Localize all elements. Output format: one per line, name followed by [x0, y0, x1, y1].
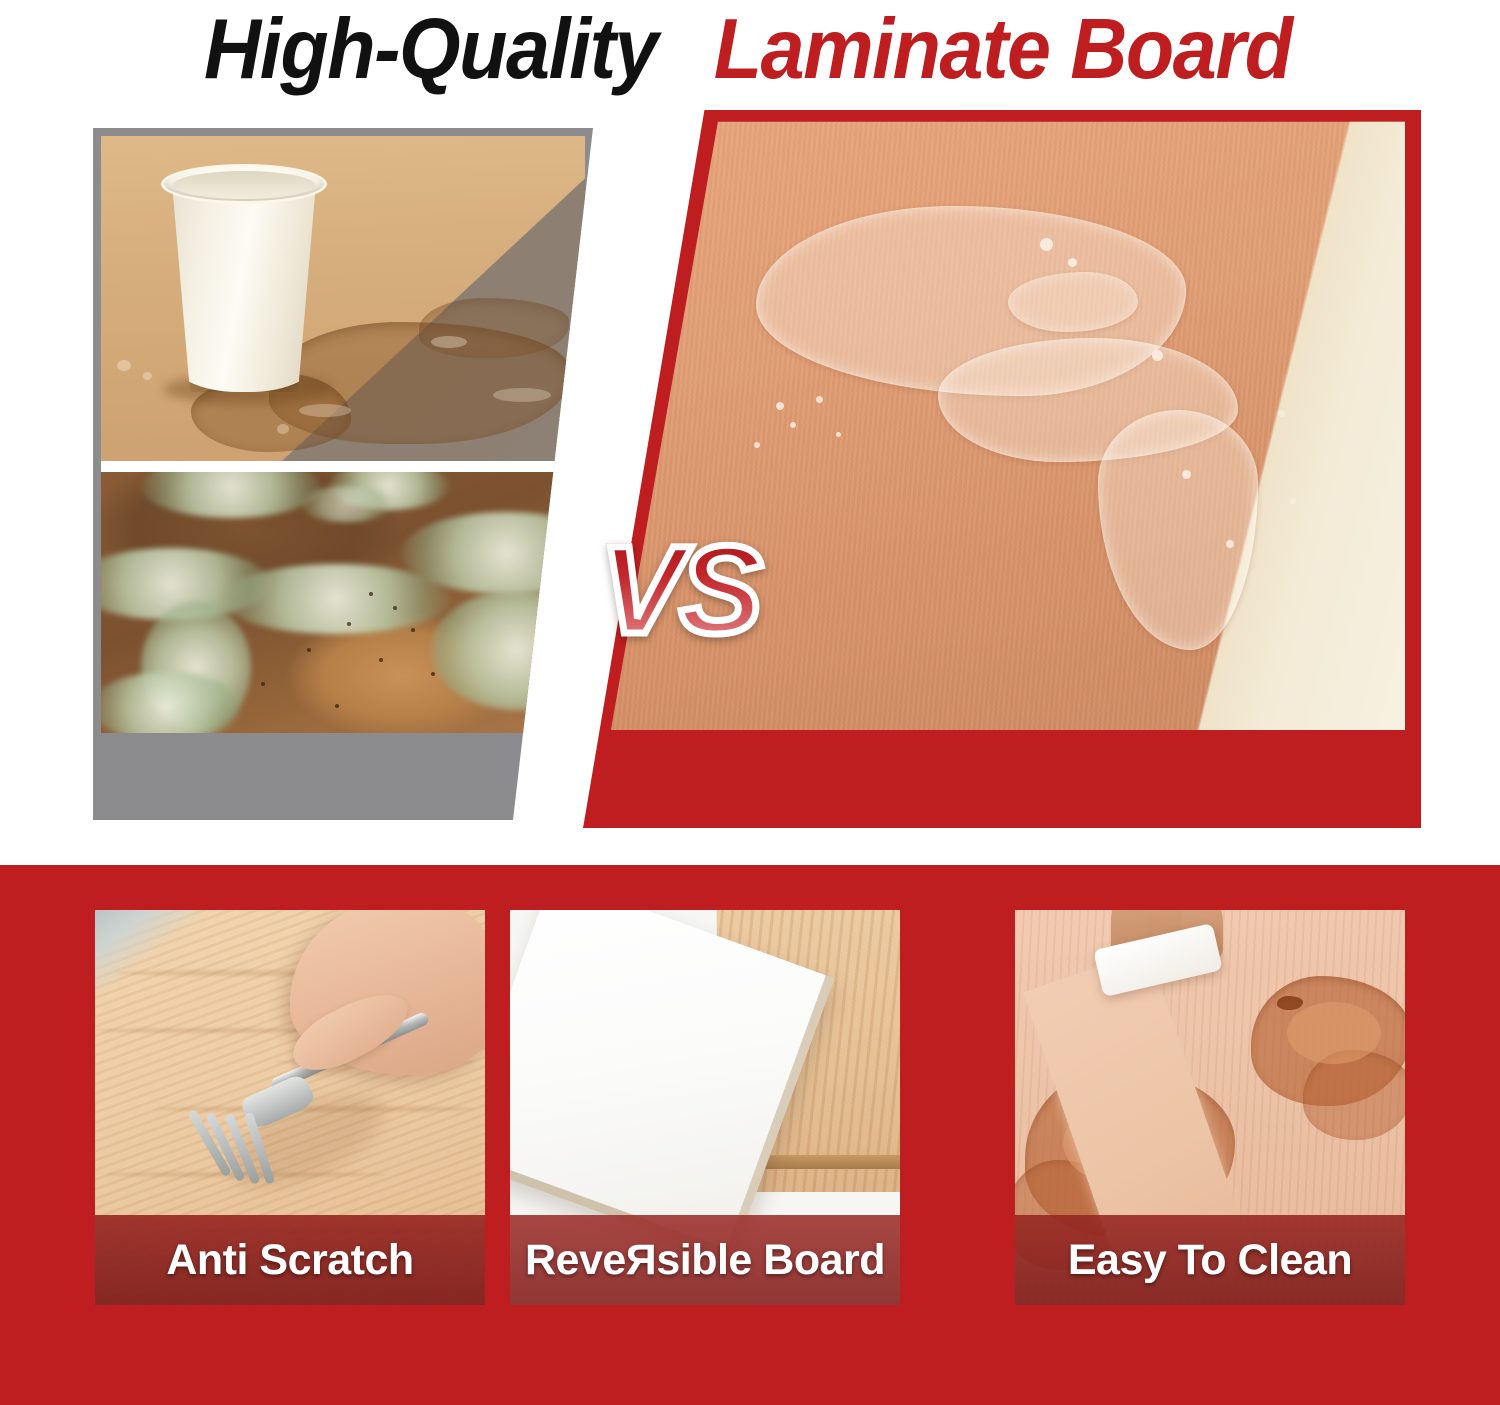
feature-label-easy-to-clean: Easy To Clean [1015, 1215, 1405, 1305]
feature-card-anti-scratch: Anti Scratch [95, 910, 485, 1305]
mirrored-r-glyph: R [626, 1236, 657, 1285]
others-panel [93, 128, 593, 820]
feature-label-anti-scratch: Anti Scratch [95, 1215, 485, 1305]
others-photo-stack [101, 136, 585, 733]
white-board-core-edge [510, 910, 834, 1260]
ours-panel [578, 110, 1421, 828]
cup-interior [173, 171, 315, 199]
headline-black-text: High-Quality [204, 6, 657, 94]
feature-label-reversible-board: ReveRsible Board [510, 1215, 900, 1305]
label-part-post: sible Board [656, 1236, 885, 1285]
features-section: Anti Scratch ReveRsible Board [0, 865, 1500, 1405]
comparison-section: Others Low Durability [0, 110, 1500, 830]
coffee-spill-photo [101, 136, 585, 461]
headline-red-text: Laminate Board [714, 6, 1292, 94]
feature-card-easy-to-clean: Easy To Clean [1015, 910, 1405, 1305]
vs-badge: VS [600, 528, 759, 653]
photo-divider [101, 461, 585, 472]
page-title: High-Quality Laminate Board [0, 0, 1500, 100]
infographic-canvas: High-Quality Laminate Board [0, 0, 1500, 1405]
mold-damage-photo [101, 472, 585, 733]
paper-cup [169, 174, 319, 392]
feature-card-reversible-board: ReveRsible Board [510, 910, 900, 1305]
label-part-pre: Reve [525, 1236, 626, 1285]
